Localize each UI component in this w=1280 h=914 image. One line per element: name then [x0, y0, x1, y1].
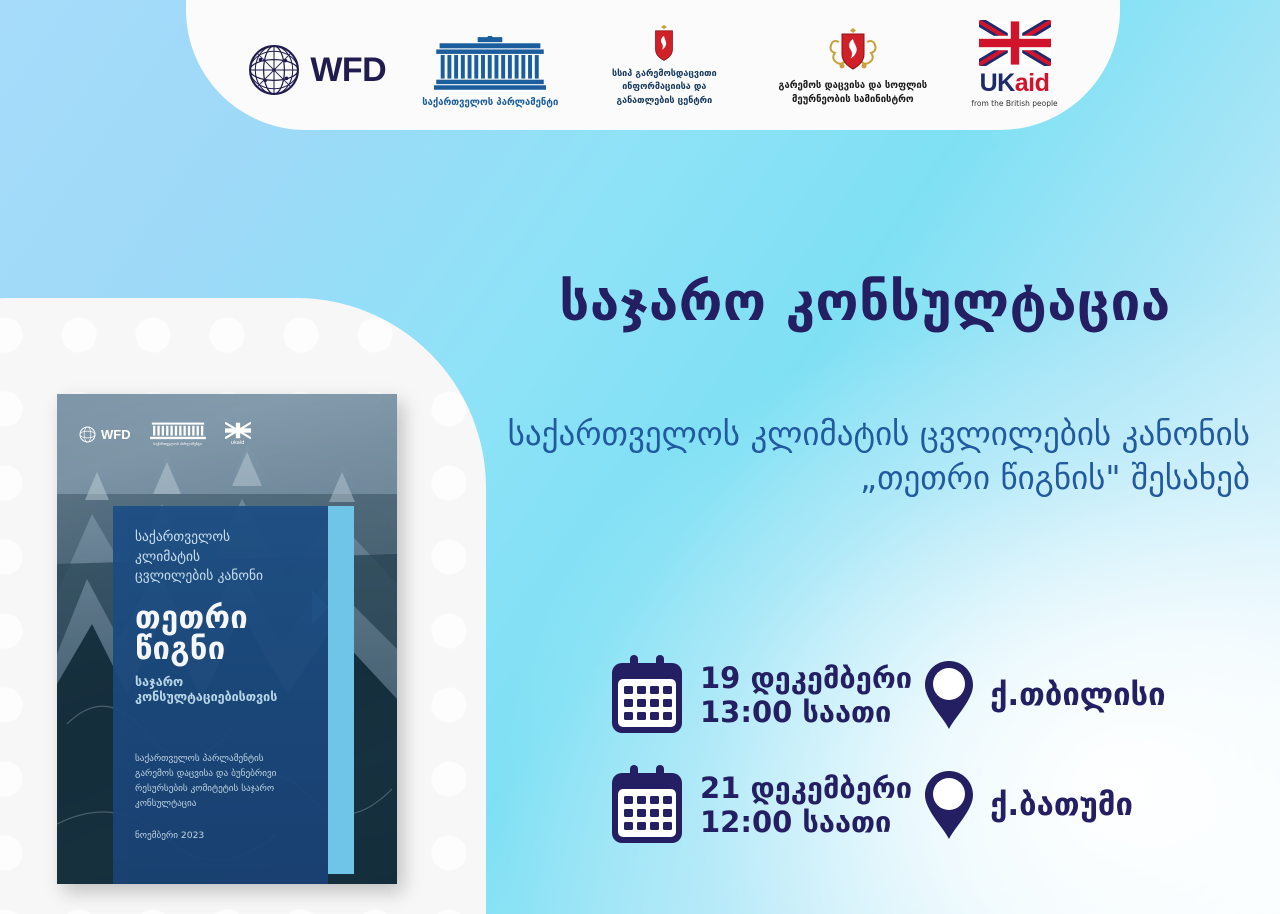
poster-canvas: WFD [0, 0, 1280, 914]
ukaid-aid-text: aid [1015, 69, 1050, 97]
ministry-environment-agriculture-logo: გარემოს დაცვისა და სოფლის მეურნეობის სამ… [770, 27, 935, 108]
ministry-caption: გარემოს დაცვისა და სოფლის მეურნეობის სამ… [770, 79, 935, 108]
event-item: 21 დეკემბერი 12:00 საათი ქ.ბათუმი [610, 765, 1210, 845]
union-jack-flag-icon [979, 20, 1051, 66]
book-text-panel: საქართველოს კლიმატის ცვლილების კანონი თე… [113, 506, 328, 884]
wfd-globe-icon [248, 44, 300, 96]
event-datetime: 19 დეკემბერი 13:00 საათი [700, 661, 912, 729]
event-datetime: 21 დეკემბერი 12:00 საათი [700, 771, 912, 839]
ukaid-caption: from the British people [971, 99, 1057, 108]
book-ukaid-logo: ukaid [225, 422, 251, 446]
wfd-globe-icon [79, 426, 96, 443]
georgian-parliament-logo: საქართველოს პარლამენტი [422, 36, 558, 108]
georgia-coat-of-arms-icon [828, 27, 878, 73]
sponsor-logo-bar: WFD [186, 0, 1120, 130]
env-centre-caption: სსიპ გარემოსდაცვითი ინფორმაციისა და განა… [594, 68, 734, 109]
book-showcase-card: WFD საქა [0, 298, 486, 914]
page-subtitle: საქართველოს კლიმატის ცვლილების კანონის „… [470, 412, 1250, 500]
book-accent-bar [328, 506, 354, 874]
book-wfd-wordmark: WFD [101, 427, 131, 442]
map-pin-icon [924, 659, 974, 731]
calendar-icon [610, 765, 684, 845]
wfd-logo: WFD [248, 44, 386, 108]
book-subtitle: საჯარო კონსულტაციებისთვის [135, 674, 308, 705]
event-city: ქ.თბილისი [990, 677, 1166, 713]
event-date: 19 დეკემბერი [700, 661, 912, 695]
parliament-caption: საქართველოს პარლამენტი [422, 97, 558, 108]
parliament-building-icon [147, 422, 209, 440]
event-time: 12:00 საათი [700, 805, 912, 839]
georgia-small-crest-icon [651, 24, 677, 62]
book-body-text: საქართველოს პარლამენტის გარემოს დაცვისა … [135, 751, 308, 812]
ukaid-wordmark: UKaid [980, 69, 1050, 98]
ukaid-logo: UKaid from the British people [971, 20, 1057, 108]
book-kicker: საქართველოს კლიმატის ცვლილების კანონი [135, 528, 308, 587]
map-pin-icon [924, 769, 974, 841]
white-paper-book-cover: WFD საქა [57, 394, 397, 884]
event-date: 21 დეკემბერი [700, 771, 912, 805]
event-time: 13:00 საათი [700, 695, 912, 729]
ukaid-uk-text: UK [980, 69, 1015, 97]
book-cover-logos: WFD საქა [79, 422, 379, 446]
parliament-building-icon [434, 36, 546, 92]
event-item: 19 დეკემბერი 13:00 საათი ქ.თბილისი [610, 655, 1210, 735]
book-parliament-caption: საქართველოს პარლამენტი [153, 442, 201, 446]
book-wfd-logo: WFD [79, 426, 131, 443]
book-title: თეთრი წიგნი [135, 603, 308, 665]
event-city: ქ.ბათუმი [990, 787, 1133, 823]
wfd-wordmark: WFD [310, 51, 386, 90]
union-jack-flag-icon [225, 422, 251, 439]
environmental-information-education-centre-logo: სსიპ გარემოსდაცვითი ინფორმაციისა და განა… [594, 24, 734, 109]
page-title: საჯარო კონსულტაცია [470, 272, 1260, 333]
book-parliament-logo: საქართველოს პარლამენტი [147, 422, 209, 446]
calendar-icon [610, 655, 684, 735]
book-ukaid-caption: ukaid [231, 440, 245, 446]
book-date: ნოემბერი 2023 [135, 830, 308, 841]
event-list: 19 დეკემბერი 13:00 საათი ქ.თბილისი [610, 655, 1210, 875]
